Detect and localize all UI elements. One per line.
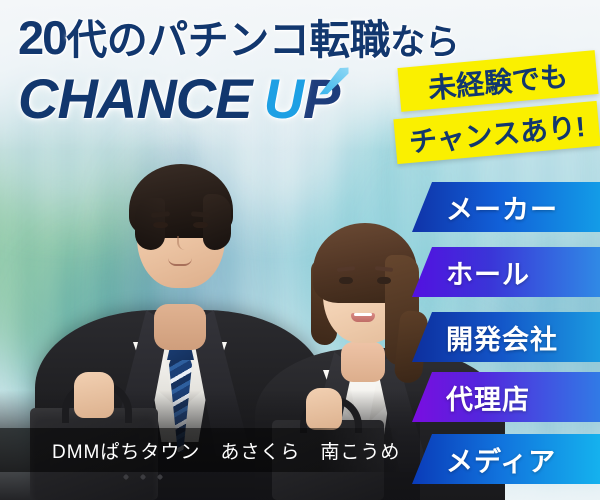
womans-eye-right	[377, 277, 391, 284]
womans-smiling-mouth	[351, 313, 375, 322]
womans-hand	[306, 388, 342, 430]
category-button-media[interactable]: メディア	[412, 434, 600, 484]
womans-neck	[341, 342, 385, 382]
credits-text: DMMぱちタウン あさくら 南こうめ	[0, 428, 400, 472]
mans-eye-left	[153, 222, 168, 228]
logo-word-up: UP	[264, 67, 340, 130]
headline-main: 代のパチンコ転職	[66, 17, 390, 63]
logo-word-chance: CHANCE	[18, 67, 252, 130]
headline-text: 20代のパチンコ転職なら	[18, 14, 459, 61]
headline-age-number: 20	[18, 11, 66, 64]
mans-neck	[154, 304, 206, 350]
mans-eye-right	[193, 222, 208, 228]
mans-hair	[129, 164, 233, 238]
category-button-agency[interactable]: 代理店	[412, 372, 600, 422]
mans-hand	[74, 372, 114, 418]
advertisement-banner[interactable]: 20代のパチンコ転職なら CHANCEUP 未経験でも チャンスあり! メーカー…	[0, 0, 600, 500]
womans-eye-left	[339, 277, 353, 284]
category-button-hall[interactable]: ホール	[412, 247, 600, 297]
headline-suffix: なら	[390, 23, 459, 62]
logo-letter-u: U	[264, 67, 303, 130]
briefcase-rivets	[120, 472, 166, 482]
category-button-maker[interactable]: メーカー	[412, 182, 600, 232]
brand-logo: CHANCEUP	[18, 71, 339, 127]
category-button-development-company[interactable]: 開発会社	[412, 312, 600, 362]
